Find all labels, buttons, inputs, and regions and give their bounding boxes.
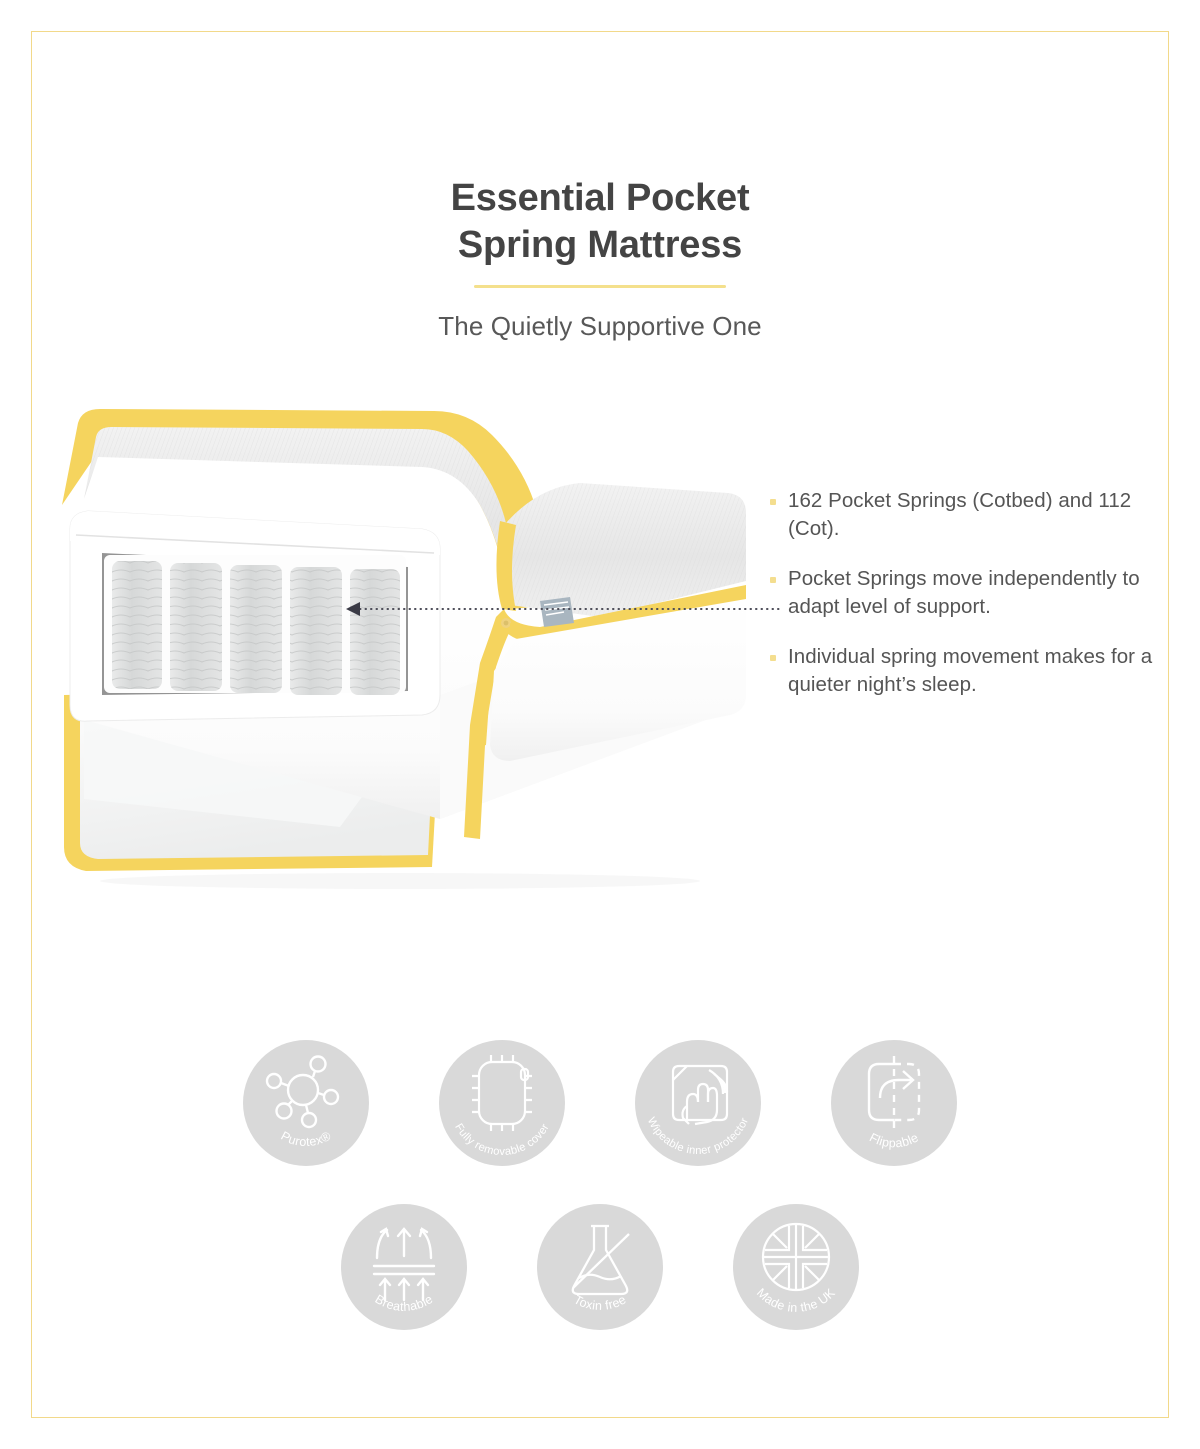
title-divider — [474, 285, 726, 288]
page-subtitle: The Quietly Supportive One — [0, 310, 1200, 342]
badge-breathable: Breathable — [341, 1204, 467, 1330]
page-title-line-2: Spring Mattress — [458, 224, 742, 266]
molecule-icon — [243, 1040, 369, 1166]
bullet-text: Pocket Springs move independently to ada… — [788, 565, 1170, 621]
header: Essential Pocket Spring Mattress The Qui… — [0, 175, 1200, 342]
infographic-page: Essential Pocket Spring Mattress The Qui… — [0, 0, 1200, 1449]
union-jack-icon — [733, 1204, 859, 1330]
flip-arrow-icon — [831, 1040, 957, 1166]
bullet-marker-icon — [770, 577, 776, 583]
badge-toxin-free: Toxin free — [537, 1204, 663, 1330]
feature-badges: Purotex® Fully remova — [0, 1040, 1200, 1330]
page-title-line-1: Essential Pocket — [451, 177, 750, 219]
leader-arrow-icon — [346, 602, 360, 616]
wipe-hand-icon — [635, 1040, 761, 1166]
mattress-cutaway-graphic — [40, 395, 800, 895]
badge-removable-cover: Fully removable cover — [439, 1040, 565, 1166]
badge-flippable: Flippable — [831, 1040, 957, 1166]
spring-callout-leader — [340, 590, 790, 630]
bullet-text: 162 Pocket Springs (Cotbed) and 112 (Cot… — [788, 487, 1170, 543]
list-item: 162 Pocket Springs (Cotbed) and 112 (Cot… — [770, 487, 1170, 543]
bullet-marker-icon — [770, 499, 776, 505]
badge-wipeable-protector: Wipeable inner protector — [635, 1040, 761, 1166]
badge-row-1: Purotex® Fully remova — [0, 1040, 1200, 1166]
product-illustration — [40, 395, 800, 895]
airflow-arrows-icon — [341, 1204, 467, 1330]
flask-crossed-icon — [537, 1204, 663, 1330]
bullet-text: Individual spring movement makes for a q… — [788, 643, 1170, 699]
badge-purotex: Purotex® — [243, 1040, 369, 1166]
list-item: Pocket Springs move independently to ada… — [770, 565, 1170, 621]
bullet-marker-icon — [770, 655, 776, 661]
badge-made-in-uk: Made in the UK — [733, 1204, 859, 1330]
page-title: Essential Pocket Spring Mattress — [0, 175, 1200, 269]
badge-row-2: Breathable Toxin free — [0, 1204, 1200, 1330]
list-item: Individual spring movement makes for a q… — [770, 643, 1170, 699]
feature-bullet-list: 162 Pocket Springs (Cotbed) and 112 (Cot… — [770, 487, 1170, 699]
mattress-zip-icon — [439, 1040, 565, 1166]
